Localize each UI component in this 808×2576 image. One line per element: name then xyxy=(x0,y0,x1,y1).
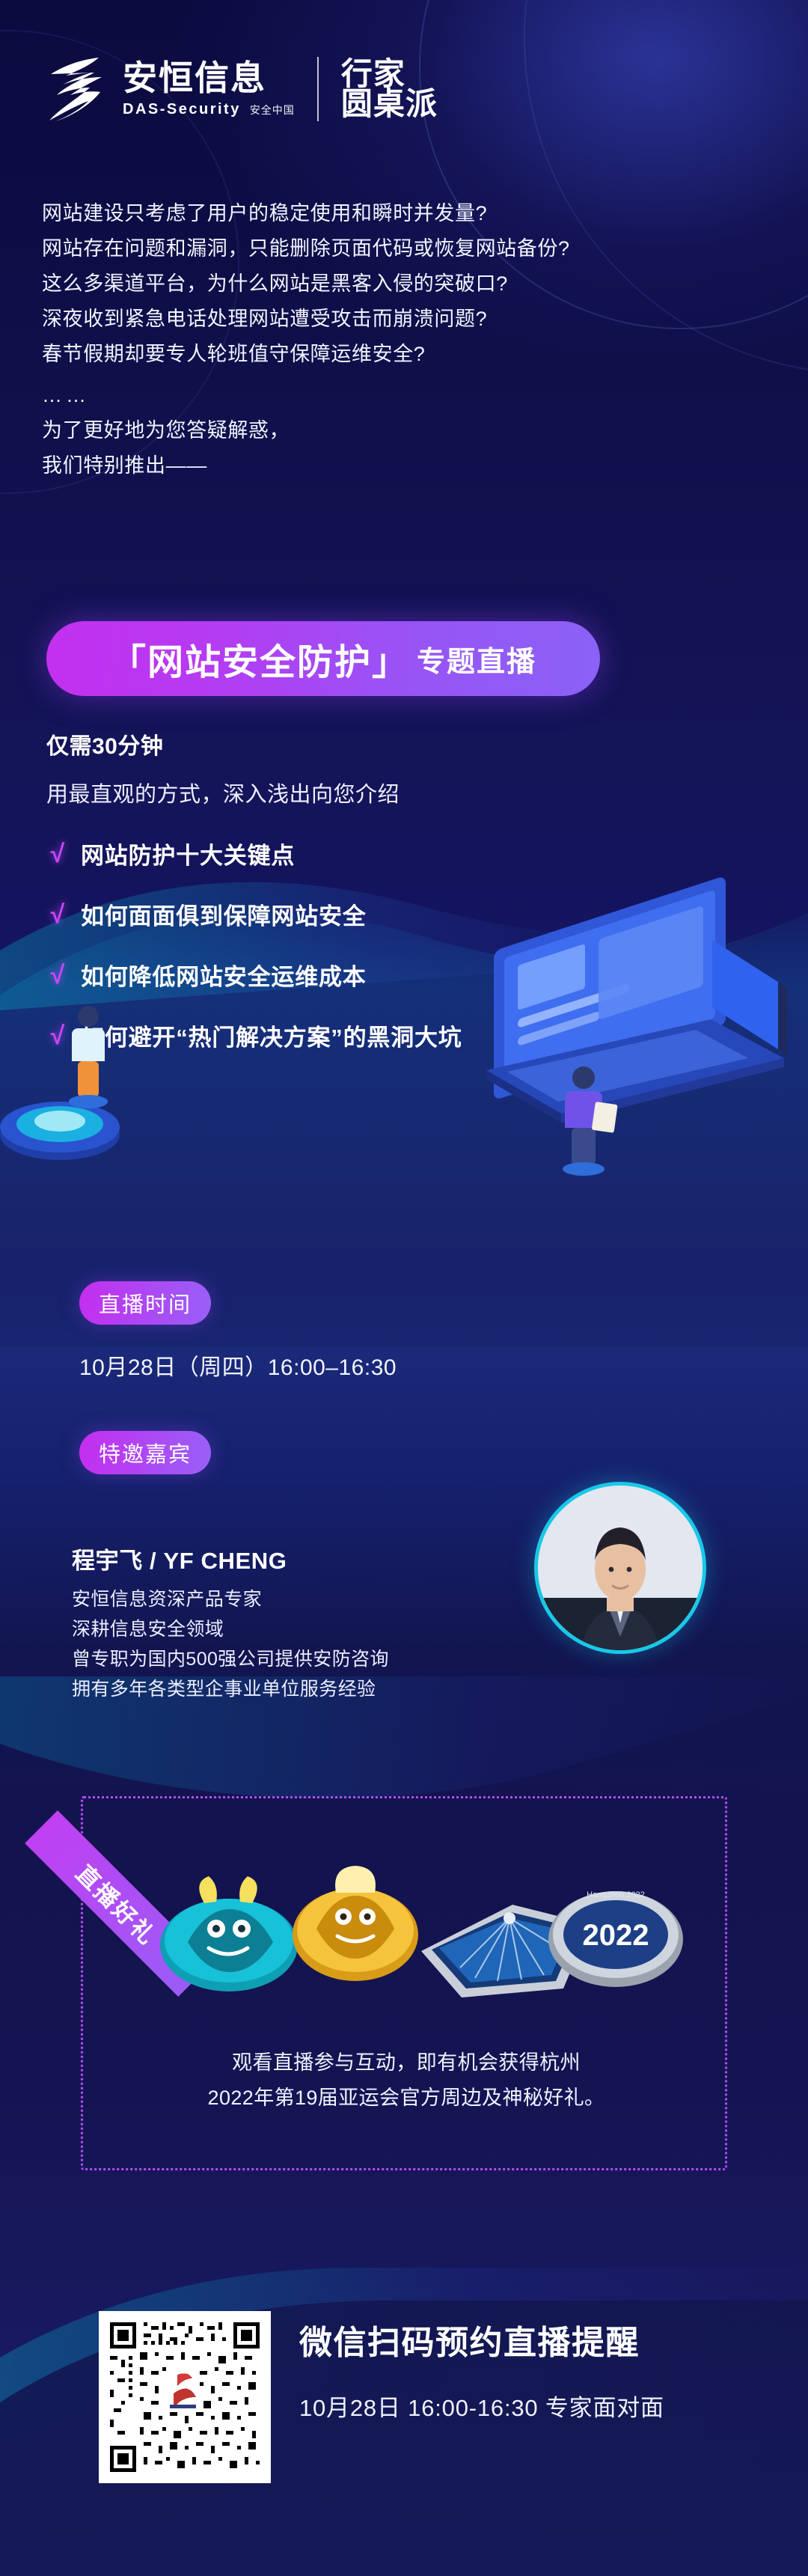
brand-name-cn: 安恒信息 xyxy=(123,61,295,95)
brand-name-en: DAS-Security xyxy=(123,101,241,118)
wechat-qr-code[interactable] xyxy=(99,2311,271,2483)
laptop-illustration-icon xyxy=(449,876,793,1145)
live-time-badge: 直播时间 xyxy=(79,1281,211,1325)
question-line: 深夜收到紧急电话处理网站遭受攻击而崩溃问题? xyxy=(42,302,775,337)
question-list: 网站建设只考虑了用户的稳定使用和瞬时并发量? 网站存在问题和漏洞，只能删除页面代… xyxy=(42,196,775,483)
intro-tail-line1: 为了更好地为您答疑解惑， xyxy=(42,413,775,448)
intro-block: 仅需30分钟 用最直观的方式，深入浅出向您介绍 xyxy=(46,727,400,808)
question-line: 春节假期却要专人轮班值守保障运维安全? xyxy=(42,337,775,372)
header: 安恒信息 DAS-Security 安全中国 行家 圆桌派 xyxy=(0,0,808,168)
intro-subtitle: 用最直观的方式，深入浅出向您介绍 xyxy=(46,777,400,808)
program-logo: 行家 圆桌派 xyxy=(341,59,438,120)
person-illustration-icon xyxy=(63,1003,115,1119)
guest-section: 特邀嘉宾 xyxy=(79,1431,211,1474)
logo-divider xyxy=(317,57,319,121)
hero-illustration xyxy=(0,861,808,1235)
duration-text: 仅需30分钟 xyxy=(46,727,400,760)
brand-wordmark: 安恒信息 DAS-Security 安全中国 xyxy=(123,61,295,118)
footer: 微信扫码预约直播提醒 10月28日 16:00-16:30 专家面对面 xyxy=(0,2290,808,2576)
program-name-line2: 圆桌派 xyxy=(341,89,438,119)
gift-caption-line2: 2022年第19届亚运会官方周边及神秘好礼。 xyxy=(83,2081,729,2116)
footer-text: 微信扫码预约直播提醒 10月28日 16:00-16:30 专家面对面 xyxy=(299,2316,664,2423)
question-ellipsis: …… xyxy=(42,378,775,413)
footer-title: 微信扫码预约直播提醒 xyxy=(299,2316,664,2363)
gift-caption-line1: 观看直播参与互动，即有机会获得杭州 xyxy=(83,2045,729,2081)
das-security-swoosh-icon xyxy=(46,56,103,122)
medal-year-label: 2022 xyxy=(583,1919,649,1952)
guest-badge: 特邀嘉宾 xyxy=(79,1431,211,1474)
live-time-section: 直播时间 10月28日（周四）16:00–16:30 xyxy=(79,1281,397,1382)
topic-title-bracketed: 「网站安全防护」 xyxy=(110,632,409,685)
topic-title-suffix: 专题直播 xyxy=(417,638,536,680)
svg-text:Hangzhou 2022: Hangzhou 2022 xyxy=(587,1890,645,1899)
intro-tail-line2: 我们特别推出—— xyxy=(42,448,775,483)
live-time-value: 10月28日（周四）16:00–16:30 xyxy=(79,1349,397,1382)
question-line: 网站建设只考虑了用户的稳定使用和瞬时并发量? xyxy=(42,196,775,231)
topic-title-banner: 「网站安全防护」 专题直播 xyxy=(46,621,600,696)
footer-subtitle: 10月28日 16:00-16:30 专家面对面 xyxy=(299,2389,664,2423)
question-line: 这么多渠道平台，为什么网站是黑客入侵的突破口? xyxy=(42,266,775,302)
person-with-clipboard-icon xyxy=(554,1063,621,1186)
brand-tagline: 安全中国 xyxy=(250,103,295,117)
program-name-line1: 行家 xyxy=(341,59,438,89)
gift-medals-image: 2022 Hangzhou 2022 xyxy=(128,1857,685,2018)
question-line: 网站存在问题和漏洞，只能删除页面代码或恢复网站备份? xyxy=(42,231,775,266)
guest-bio-line: 拥有多年各类型企事业单位服务经验 xyxy=(72,1674,745,1704)
gift-caption: 观看直播参与互动，即有机会获得杭州 2022年第19届亚运会官方周边及神秘好礼。 xyxy=(83,2045,729,2116)
gift-section: 直播好礼 xyxy=(81,1796,727,2170)
brand-logo: 安恒信息 DAS-Security 安全中国 行家 圆桌派 xyxy=(46,56,438,122)
avatar xyxy=(534,1482,706,1654)
